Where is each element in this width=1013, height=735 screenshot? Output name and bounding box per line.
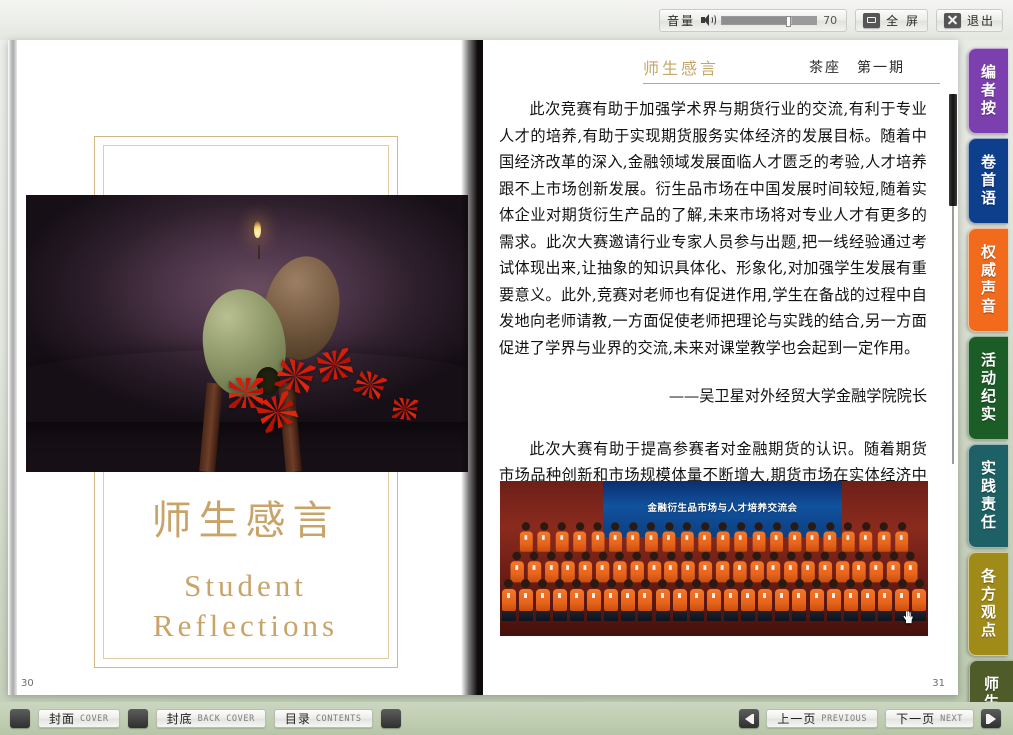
- candle-flame-icon: [254, 221, 261, 238]
- group-photo-person: [690, 579, 704, 621]
- group-photo-person: [784, 552, 797, 583]
- cover-label-cn: 封面: [49, 710, 75, 727]
- contents-label-cn: 目录: [285, 710, 311, 727]
- group-photo-person: [699, 523, 712, 552]
- rail-tab-label: 卷首语: [978, 154, 999, 208]
- spine-highlight: [483, 40, 493, 695]
- group-photo-person: [733, 552, 746, 583]
- rail-tab-6[interactable]: 各方观点: [968, 552, 1008, 656]
- left-page-number: 30: [21, 678, 34, 689]
- rail-tab-label: 活动纪实: [978, 352, 999, 424]
- group-photo-person: [638, 579, 652, 621]
- volume-label: 音量: [667, 12, 695, 29]
- top-toolbar: 音量 70 全 屏 退出: [0, 0, 1013, 40]
- group-photo-person: [770, 523, 783, 552]
- group-photo-person: [870, 552, 883, 583]
- group-photo-person: [836, 552, 849, 583]
- arrow-right-icon: [989, 714, 996, 724]
- group-photo-person: [604, 579, 618, 621]
- group-photo-person: [741, 579, 755, 621]
- next-label-en: NEXT: [940, 714, 963, 724]
- contents-button[interactable]: 目录 CONTENTS: [274, 709, 373, 728]
- group-photo-person: [878, 579, 892, 621]
- fullscreen-icon[interactable]: [863, 13, 880, 28]
- left-page-photo: [26, 195, 468, 472]
- previous-page-button[interactable]: 上一页 PREVIOUS: [766, 709, 878, 728]
- group-photo-person: [887, 552, 900, 583]
- group-photo-person: [724, 579, 738, 621]
- book-spine: [461, 40, 483, 695]
- group-photo-person: [627, 523, 640, 552]
- group-photo-person: [853, 552, 866, 583]
- rail-tab-5[interactable]: 实践责任: [968, 444, 1008, 548]
- volume-value: 70: [823, 14, 839, 27]
- group-photo-person: [752, 523, 765, 552]
- group-photo-person: [570, 579, 584, 621]
- article-header: 师生感言 茶座 第一期: [643, 50, 940, 84]
- group-photo-person: [827, 579, 841, 621]
- group-photo-person: [664, 552, 677, 583]
- group-photo-person: [630, 552, 643, 583]
- group-photo-row: [500, 579, 928, 621]
- volume-slider[interactable]: [721, 16, 817, 25]
- rail-tab-2[interactable]: 卷首语: [968, 138, 1008, 224]
- group-photo-person: [553, 579, 567, 621]
- group-photo-person: [656, 579, 670, 621]
- group-photo-person: [591, 523, 604, 552]
- article-paragraph-1: 此次竞赛有助于加强学术界与期货行业的交流,有利于专业人才的培养,有助于实现期货服…: [499, 96, 927, 361]
- group-photo-person: [904, 552, 917, 583]
- group-photo-person: [555, 523, 568, 552]
- previous-label-cn: 上一页: [777, 710, 816, 727]
- group-photo-row: [517, 523, 911, 552]
- group-photo-person: [842, 523, 855, 552]
- previous-arrow-button[interactable]: [739, 709, 759, 728]
- group-photo-people: [500, 521, 928, 636]
- left-page-title-en-line1: Student: [8, 568, 483, 604]
- rail-tab-label: 权威声音: [978, 244, 999, 316]
- group-photo-person: [545, 552, 558, 583]
- group-photo-person: [536, 579, 550, 621]
- speaker-icon[interactable]: [701, 14, 715, 26]
- group-photo-person: [844, 579, 858, 621]
- group-photo-person: [647, 552, 660, 583]
- book-spread: 师生感言 Student Reflections 30 师生感言 茶座 第一期 …: [8, 40, 958, 695]
- group-photo-person: [562, 552, 575, 583]
- article-attribution-1: ——吴卫星对外经贸大学金融学院院长: [499, 383, 927, 410]
- left-page-title-en-line2: Reflections: [8, 608, 483, 644]
- group-photo-person: [519, 579, 533, 621]
- rail-tab-4[interactable]: 活动纪实: [968, 336, 1008, 440]
- group-photo-person: [587, 579, 601, 621]
- group-photo-person: [788, 523, 801, 552]
- group-photo-person: [538, 523, 551, 552]
- group-photo-person: [707, 579, 721, 621]
- right-page[interactable]: 师生感言 茶座 第一期 此次竞赛有助于加强学术界与期货行业的交流,有利于专业人才…: [483, 40, 958, 695]
- rail-tab-label: 编者按: [978, 64, 999, 118]
- group-photo-person: [775, 579, 789, 621]
- rail-tab-label: 各方观点: [978, 568, 999, 640]
- rail-tab-1[interactable]: 编者按: [968, 48, 1008, 134]
- cover-label-en: COVER: [80, 714, 109, 724]
- exit-button[interactable]: 退出: [936, 9, 1003, 32]
- volume-control-group[interactable]: 音量 70: [659, 9, 847, 32]
- rail-tab-3[interactable]: 权威声音: [968, 228, 1008, 332]
- group-photo-person: [806, 523, 819, 552]
- back-cover-icon-button[interactable]: [128, 709, 148, 728]
- right-page-photo: 金融衍生品市场与人才培养交流会: [500, 481, 928, 636]
- group-photo-person: [663, 523, 676, 552]
- group-photo-person: [767, 552, 780, 583]
- arrow-left-bar-icon: [752, 714, 755, 724]
- previous-label-en: PREVIOUS: [821, 714, 867, 724]
- group-photo-person: [792, 579, 806, 621]
- left-page-title-cn: 师生感言: [8, 488, 483, 546]
- exit-label: 退出: [967, 12, 995, 29]
- group-photo-person: [860, 523, 873, 552]
- back-cover-label-cn: 封底: [167, 710, 193, 727]
- group-photo-person: [750, 552, 763, 583]
- group-photo-person: [861, 579, 875, 621]
- group-photo-person: [682, 552, 695, 583]
- back-cover-label-en: BACK COVER: [198, 714, 255, 724]
- group-photo-person: [734, 523, 747, 552]
- group-photo-person: [716, 523, 729, 552]
- group-photo-person: [716, 552, 729, 583]
- article-category: 师生感言: [643, 55, 719, 79]
- next-page-button[interactable]: 下一页 NEXT: [885, 709, 974, 728]
- group-photo-row: [509, 552, 920, 583]
- contents-extra-icon-button[interactable]: [381, 709, 401, 728]
- cover-button[interactable]: 封面 COVER: [38, 709, 120, 728]
- cover-icon-button[interactable]: [10, 709, 30, 728]
- rail-tab-label: 实践责任: [978, 460, 999, 532]
- category-tab-rail: 编者按卷首语权威声音活动纪实实践责任各方观点师生感言: [958, 42, 1013, 702]
- group-photo-person: [573, 523, 586, 552]
- bottom-toolbar: 封面 COVER 封底 BACK COVER 目录 CONTENTS 上一页 P…: [0, 702, 1013, 735]
- group-photo-person: [621, 579, 635, 621]
- group-photo-person: [613, 552, 626, 583]
- group-photo-person: [502, 579, 516, 621]
- next-arrow-button[interactable]: [981, 709, 1001, 728]
- article-issue: 茶座 第一期: [809, 57, 905, 77]
- group-photo-person: [645, 523, 658, 552]
- group-photo-person: [596, 552, 609, 583]
- next-label-cn: 下一页: [896, 710, 935, 727]
- scrollbar-thumb[interactable]: [949, 94, 957, 206]
- close-icon[interactable]: [944, 13, 961, 28]
- group-photo-person: [673, 579, 687, 621]
- event-banner-text: 金融衍生品市场与人才培养交流会: [603, 500, 843, 514]
- group-photo-person: [528, 552, 541, 583]
- left-page[interactable]: 师生感言 Student Reflections 30: [8, 40, 483, 695]
- group-photo-person: [818, 552, 831, 583]
- contents-label-en: CONTENTS: [316, 714, 362, 724]
- group-photo-person: [699, 552, 712, 583]
- group-photo-person: [681, 523, 694, 552]
- arrow-left-icon: [745, 714, 752, 724]
- right-page-number: 31: [932, 678, 945, 689]
- group-photo-person: [579, 552, 592, 583]
- group-photo-person: [895, 523, 908, 552]
- back-cover-button[interactable]: 封底 BACK COVER: [156, 709, 266, 728]
- group-photo-person: [824, 523, 837, 552]
- group-photo-person: [801, 552, 814, 583]
- group-photo-person: [609, 523, 622, 552]
- group-photo-person: [520, 523, 533, 552]
- group-photo-person: [810, 579, 824, 621]
- fullscreen-label: 全 屏: [886, 12, 920, 29]
- group-photo-person: [758, 579, 772, 621]
- hand-cursor-icon: [901, 609, 916, 626]
- group-photo-person: [510, 552, 523, 583]
- fullscreen-button[interactable]: 全 屏: [855, 9, 928, 32]
- group-photo-person: [878, 523, 891, 552]
